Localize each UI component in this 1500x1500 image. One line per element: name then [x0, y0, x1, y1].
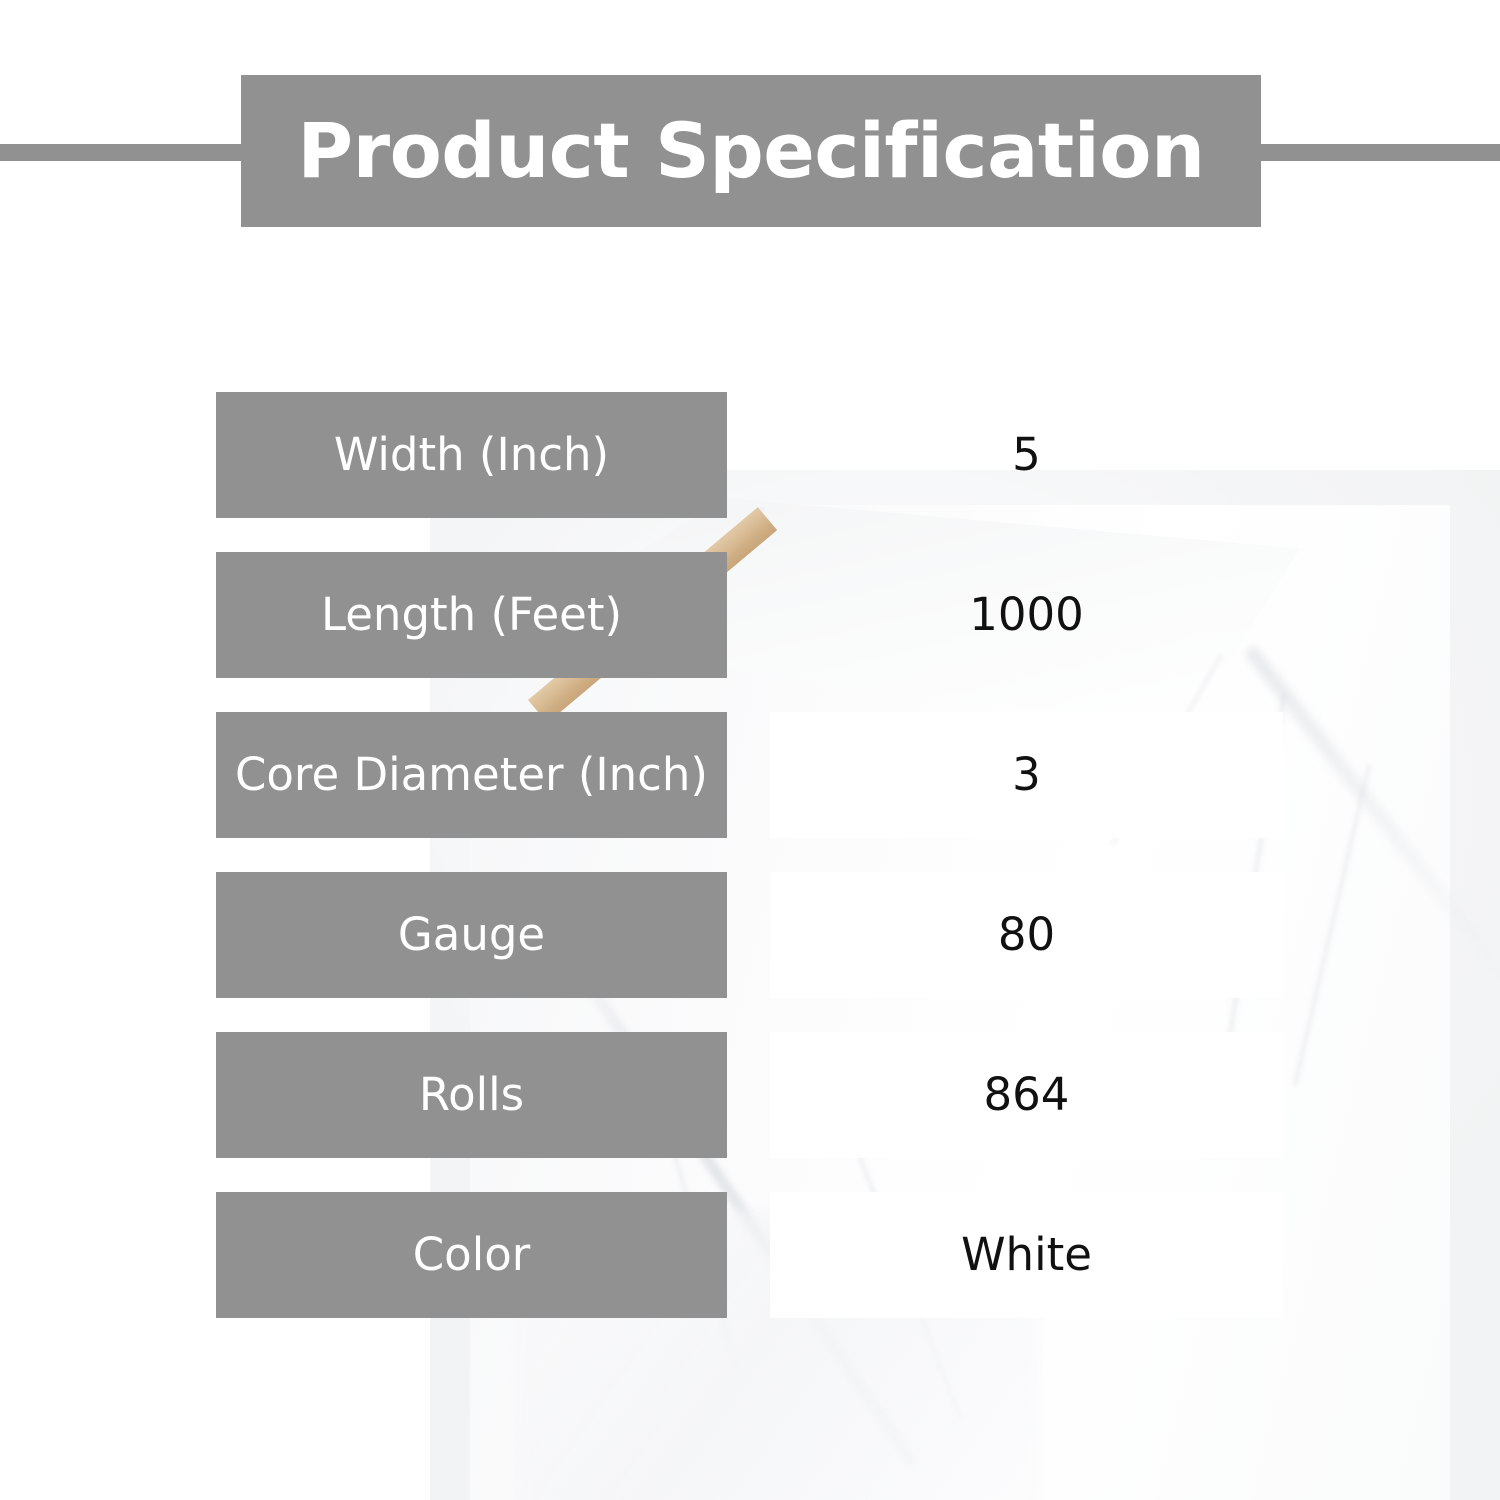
spec-value-gauge: 80	[770, 872, 1283, 998]
page-title: Product Specification	[297, 113, 1204, 189]
table-row: Gauge 80	[216, 872, 1283, 998]
spec-label-rolls: Rolls	[216, 1032, 727, 1158]
table-row: Length (Feet) 1000	[216, 552, 1283, 678]
spec-label-gauge: Gauge	[216, 872, 727, 998]
column-gap	[727, 1032, 770, 1158]
column-gap	[727, 712, 770, 838]
column-gap	[727, 552, 770, 678]
spec-value-width: 5	[770, 392, 1283, 518]
table-row: Core Diameter (Inch) 3	[216, 712, 1283, 838]
spec-label-length: Length (Feet)	[216, 552, 727, 678]
spec-label-width: Width (Inch)	[216, 392, 727, 518]
table-row: Rolls 864	[216, 1032, 1283, 1158]
column-gap	[727, 392, 770, 518]
spec-value-length: 1000	[770, 552, 1283, 678]
table-row: Width (Inch) 5	[216, 392, 1283, 518]
column-gap	[727, 1192, 770, 1318]
spec-value-color: White	[770, 1192, 1283, 1318]
spec-value-core-diameter: 3	[770, 712, 1283, 838]
column-gap	[727, 872, 770, 998]
spec-value-rolls: 864	[770, 1032, 1283, 1158]
spec-label-color: Color	[216, 1192, 727, 1318]
film-crease	[1293, 764, 1371, 1086]
table-row: Color White	[216, 1192, 1283, 1318]
specification-table: Width (Inch) 5 Length (Feet) 1000 Core D…	[216, 392, 1283, 1318]
product-specification-page: Product Specification Width (Inch) 5 Len…	[0, 0, 1500, 1500]
spec-label-core-diameter: Core Diameter (Inch)	[216, 712, 727, 838]
header-banner: Product Specification	[241, 75, 1261, 227]
